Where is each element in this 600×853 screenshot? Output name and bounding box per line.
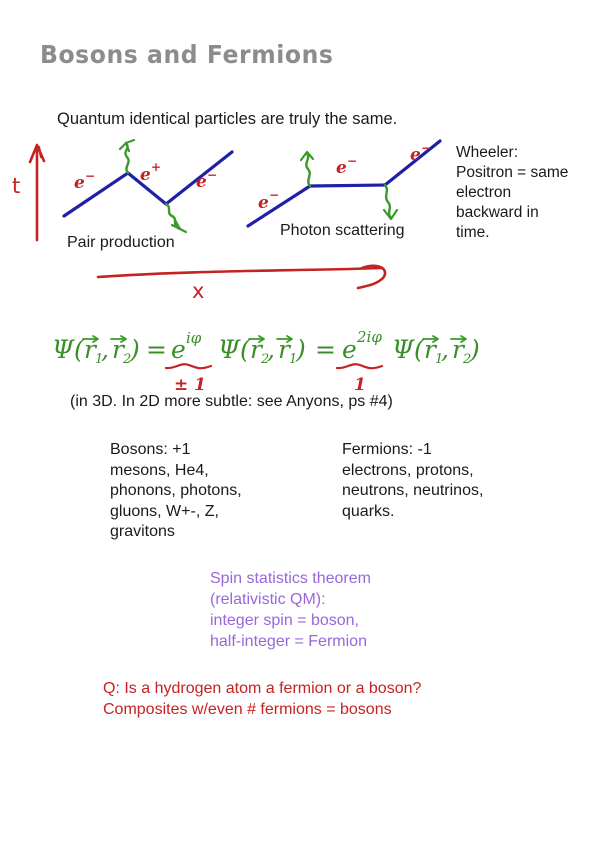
equation-lhs-r2-sub: 2 [122,352,131,367]
equation-rhs-r1: r [424,335,438,364]
equation-equals-2: = [315,335,336,364]
equation-rhs-r1-sub: 1 [435,352,443,367]
equation-equals-1: = [146,335,167,364]
equation-lhs-comma-1: , [101,335,109,364]
time-axis-label: t [12,174,20,198]
particle-label-positron: e [140,165,151,185]
equation-mid-psi: Ψ [218,335,241,364]
spin-statistics-note: Spin statistics theorem (relativistic QM… [210,568,371,652]
particle-label-electron-mid: e [336,158,347,178]
particle-label-electron-out: e [196,172,207,192]
equation-phase-base-2: e [342,335,357,364]
pair-production-caption: Pair production [67,232,175,253]
equation-rhs-r2: r [452,335,466,364]
photon-scattering-caption: Photon scattering [280,220,405,241]
equation-phase-exp-1: iφ [186,329,202,347]
pair-production-diagram: e − e + e − [64,140,232,232]
equation-phase-base-1: e [171,335,186,364]
particle-label-electron-out-charge: − [207,168,217,182]
time-axis-arrow [30,145,44,240]
equation-lhs-psi: Ψ [52,335,75,364]
equation-lhs-paren-close: ) [129,335,140,364]
equation-rhs-paren-close: ) [469,335,480,364]
particle-label-electron-mid-charge: − [347,154,357,168]
equation-mid-r1-sub: 1 [289,352,297,367]
equation-phase-exp-2: 2iφ [356,328,382,346]
boson-list: Bosons: +1 mesons, He4, phonons, photons… [110,440,242,543]
particle-label-electron-in-charge: − [85,169,95,183]
wheeler-note: Wheeler: Positron = same electron backwa… [456,143,568,243]
particle-label-electron-in: e [74,173,85,193]
space-axis-label: x [192,279,204,303]
equation-lhs-paren-open: ( [74,335,85,364]
photon-scattering-diagram: e − e − e − [248,141,440,226]
equation-mid-paren-close: ) [295,335,306,364]
equation-mid-paren-open: ( [240,335,251,364]
equation-lhs-r1-sub: 1 [95,352,103,367]
equation-rhs-psi: Ψ [392,335,415,364]
equation-mid-r2-sub: 2 [260,352,269,367]
dimension-note: (in 3D. In 2D more subtle: see Anyons, p… [70,391,393,412]
slide-canvas: Bosons and Fermions Quantum identical pa… [0,0,600,853]
equation-mid-r1: r [278,335,292,364]
equation-mid-r2: r [250,335,264,364]
equation-rhs-r2-sub: 2 [462,352,471,367]
page-title: Bosons and Fermions [40,40,333,69]
particle-label-electron-right-charge: − [421,141,431,155]
equation-rhs-comma: , [441,335,449,364]
space-axis-arrow [98,266,385,288]
equation-lhs-r1: r [84,335,98,364]
intro-statement: Quantum identical particles are truly th… [57,109,397,130]
particle-label-electron-left: e [258,193,269,213]
equation-rhs-paren-open: ( [414,335,425,364]
fermion-list: Fermions: -1 electrons, protons, neutron… [342,440,483,522]
equation-mid-comma: , [267,335,275,364]
particle-label-electron-right: e [410,145,421,165]
symmetry-equation: Ψ ( r 1 , r 2 ) = e iφ ± 1 Ψ ( r [52,328,480,395]
particle-label-electron-left-charge: − [269,188,279,202]
equation-lhs-r2: r [112,335,126,364]
particle-label-positron-charge: + [151,160,161,174]
question-note: Q: Is a hydrogen atom a fermion or a bos… [103,678,421,720]
